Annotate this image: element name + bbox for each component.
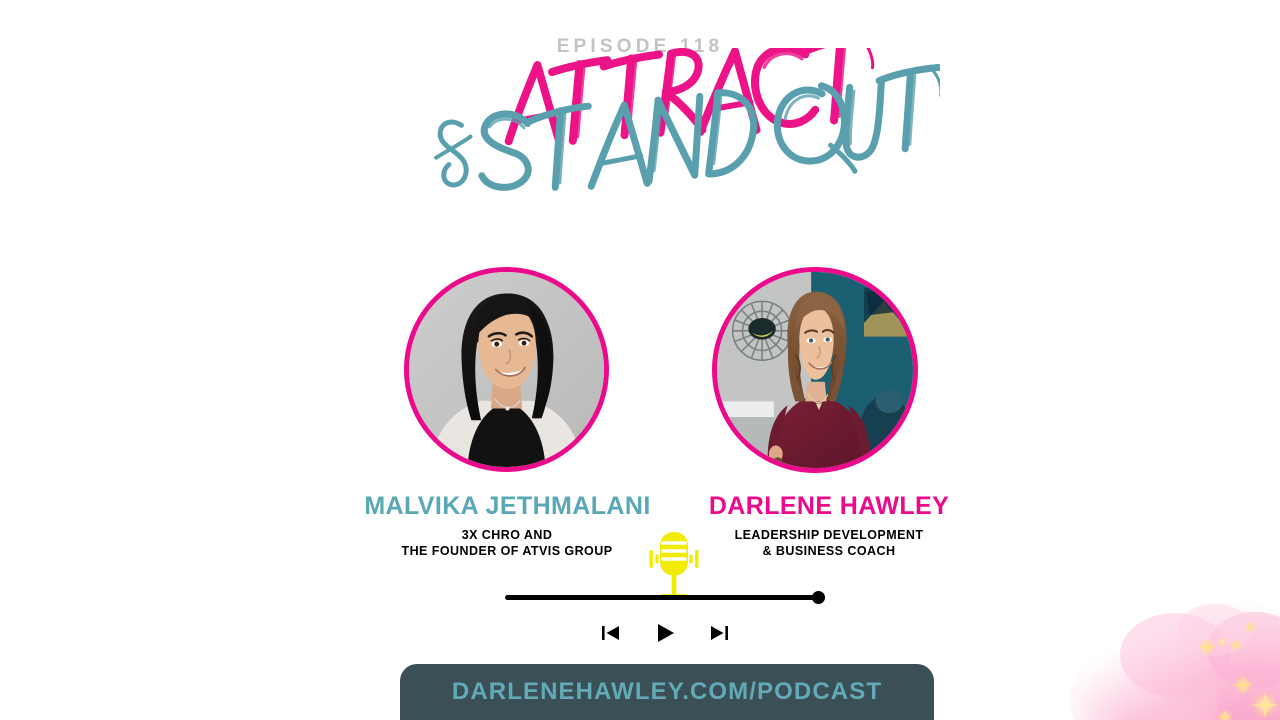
pink-watercolor-corner — [1050, 535, 1280, 720]
guest-role-line2: THE FOUNDER OF ATVIS GROUP — [357, 544, 657, 560]
guest-role-malvika-jethmalani: 3X CHRO AND THE FOUNDER OF ATVIS GROUP — [357, 528, 657, 559]
play-icon[interactable] — [652, 620, 678, 646]
show-title-lockup — [400, 48, 940, 223]
guest-photo-malvika-jethmalani — [404, 267, 609, 472]
skip-back-icon[interactable] — [598, 620, 624, 646]
podcast-url-banner[interactable]: DARLENEHAWLEY.COM/PODCAST — [400, 664, 934, 720]
guest-name-malvika-jethmalani: MALVIKA JETHMALANI — [355, 492, 660, 521]
guest-name-darlene-hawley: DARLENE HAWLEY — [700, 492, 958, 521]
sparkles — [1198, 621, 1279, 720]
player-controls — [580, 620, 750, 646]
guest-role-line1: 3X CHRO AND — [357, 528, 657, 544]
guest-role-line1: LEADERSHIP DEVELOPMENT — [700, 528, 958, 544]
podcast-episode-cover: EPISODE 118 — [0, 0, 1280, 720]
guest-role-line2: & BUSINESS COACH — [700, 544, 958, 560]
progress-knob[interactable] — [812, 591, 825, 604]
skip-forward-icon[interactable] — [706, 620, 732, 646]
progress-track[interactable] — [505, 595, 825, 600]
microphone-icon — [637, 528, 711, 602]
wash-blobs — [1070, 590, 1280, 720]
podcast-url-text: DARLENEHAWLEY.COM/PODCAST — [452, 678, 882, 706]
guest-photo-darlene-hawley — [712, 267, 918, 473]
guest-role-darlene-hawley: LEADERSHIP DEVELOPMENT & BUSINESS COACH — [700, 528, 958, 559]
